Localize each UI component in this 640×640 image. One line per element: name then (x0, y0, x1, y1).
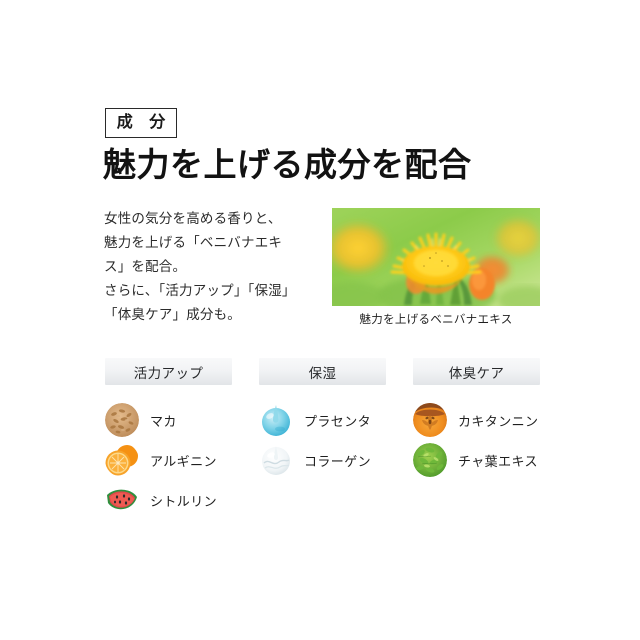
persimmon-slice-icon (413, 403, 447, 437)
safflower-photo (332, 208, 540, 306)
column-header-vitality: 活力アップ (105, 358, 232, 385)
ingredient-column-moisture: 保湿 (259, 358, 386, 520)
ingredient-column-vitality: 活力アップ (105, 358, 232, 520)
column-header-label: 保湿 (309, 362, 337, 382)
ingredient-label: カキタンニン (458, 411, 538, 430)
intro-line-4: さらに、「活力アップ」「保湿」 (104, 279, 336, 303)
page-title: 魅力を上げる成分を配合 (103, 147, 472, 183)
list-item: アルギニン (105, 440, 232, 480)
orange-slice-icon (105, 443, 139, 477)
column-header-moisture: 保湿 (259, 358, 386, 385)
clear-gel-icon (259, 443, 293, 477)
list-item: マカ (105, 400, 232, 440)
section-badge-label: 成 分 (111, 115, 171, 131)
watermelon-slice-icon (105, 483, 139, 517)
section-badge: 成 分 (105, 108, 177, 138)
tea-leaves-icon (413, 443, 447, 477)
intro-line-3: ス」を配合。 (104, 255, 336, 279)
ingredient-list-odorcare: カキタンニン (413, 400, 540, 480)
column-header-odorcare: 体臭ケア (413, 358, 540, 385)
ingredient-label: マカ (150, 411, 177, 430)
ingredient-column-odorcare: 体臭ケア (413, 358, 540, 520)
ingredient-label: プラセンタ (304, 411, 371, 430)
column-header-label: 活力アップ (134, 362, 204, 382)
list-item: コラーゲン (259, 440, 386, 480)
ingredient-label: チャ葉エキス (458, 451, 538, 470)
ingredient-list-vitality: マカ (105, 400, 232, 520)
ingredient-label: コラーゲン (304, 451, 371, 470)
list-item: チャ葉エキス (413, 440, 540, 480)
maca-granules-icon (105, 403, 139, 437)
list-item: カキタンニン (413, 400, 540, 440)
ingredient-label: アルギニン (150, 451, 217, 470)
photo-caption: 魅力を上げるベニバナエキス (332, 311, 540, 327)
intro-line-2: 魅力を上げる「ベニバナエキ (104, 231, 336, 255)
intro-line-1: 女性の気分を高める香りと、 (104, 207, 336, 231)
intro-paragraph: 女性の気分を高める香りと、 魅力を上げる「ベニバナエキ ス」を配合。 さらに、「… (104, 207, 336, 327)
blue-droplet-icon (259, 403, 293, 437)
list-item: シトルリン (105, 480, 232, 520)
ingredient-section-page: 成 分 魅力を上げる成分を配合 女性の気分を高める香りと、 魅力を上げる「ベニバ… (0, 0, 640, 640)
ingredient-columns: 活力アップ (105, 358, 540, 520)
column-header-label: 体臭ケア (449, 362, 505, 382)
intro-line-5: 「体臭ケア」成分も。 (104, 303, 336, 327)
ingredient-label: シトルリン (150, 491, 217, 510)
ingredient-list-moisture: プラセンタ (259, 400, 386, 480)
list-item: プラセンタ (259, 400, 386, 440)
